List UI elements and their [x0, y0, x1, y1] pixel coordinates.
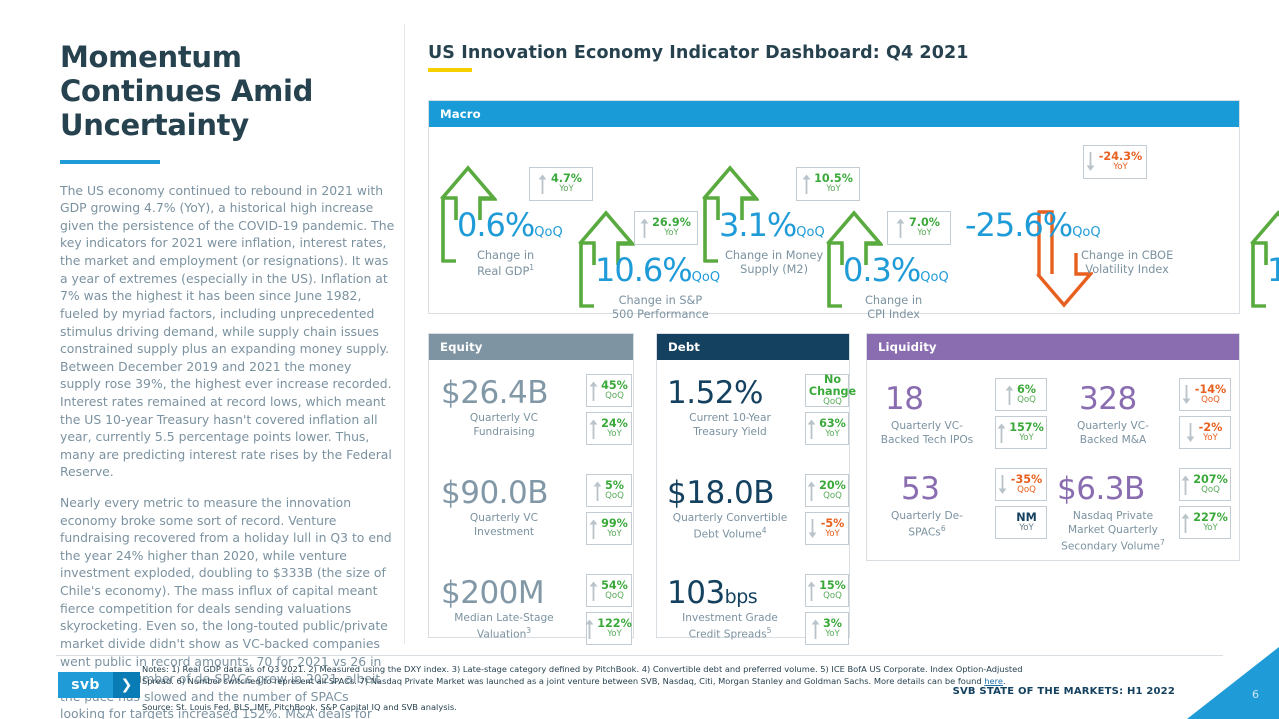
metric-chip-1-qoq: -14%QoQ — [1179, 378, 1231, 411]
footnotes: Notes: 1) Real GDP data as of Q3 2021. 2… — [142, 663, 1032, 688]
chip-period: YoY — [551, 185, 582, 194]
macro-value: 3.1%QoQ — [719, 209, 825, 241]
macro-value-period: QoQ — [1072, 225, 1100, 240]
svb-logo[interactable]: svb ❯ — [58, 672, 140, 698]
chip-arrow-up-icon — [1003, 384, 1015, 406]
chip-period: YoY — [821, 530, 845, 539]
chip-arrow-down-icon — [997, 474, 1009, 496]
metric-value: $6.3B — [1057, 474, 1145, 505]
svb-logo-wordmark: svb — [58, 672, 113, 698]
chip-period: QoQ — [601, 392, 628, 401]
metric-chip-2-qoq: 15%QoQ — [805, 574, 849, 607]
metric-chip-2-qoq: -35%QoQ — [995, 468, 1047, 501]
metric-label: Nasdaq PrivateMarket QuarterlySecondary … — [1045, 510, 1181, 554]
chip-arrow-up-icon — [805, 480, 817, 502]
chip-period: YoY — [1193, 524, 1228, 533]
metric-chip-2-yoy: 122%YoY — [586, 612, 632, 645]
dashboard-title: US Innovation Economy Indicator Dashboar… — [428, 43, 969, 63]
chip-period: QoQ — [601, 592, 628, 601]
equity-panel-header: Equity — [429, 334, 633, 360]
page-title: Momentum Continues Amid Uncertainty — [60, 40, 396, 143]
metric-value: 328 — [1079, 384, 1137, 415]
chip-period: YoY — [601, 530, 628, 539]
metric-chip-2-yoy: NMYoY — [995, 506, 1047, 539]
debt-panel-header: Debt — [657, 334, 849, 360]
chip-arrow-up-icon — [805, 580, 817, 602]
macro-value: -25.6%QoQ — [965, 209, 1101, 241]
metric-label: Quarterly VCInvestment — [429, 512, 579, 540]
corner-accent: 6 — [1187, 647, 1279, 719]
chip-arrow-up-icon — [800, 173, 812, 195]
corner-triangle — [1187, 647, 1279, 719]
chip-arrow-up-icon — [809, 618, 821, 640]
chip-period: YoY — [909, 229, 940, 238]
metric-value: 1.52% — [667, 378, 763, 409]
chip-period: QoQ — [819, 492, 846, 501]
metric-chip-0-qoq: 6%QoQ — [995, 378, 1047, 411]
chip-arrow-up-icon — [591, 480, 603, 502]
chip-arrow-up-icon — [638, 217, 650, 239]
chip-period: YoY — [819, 430, 846, 439]
metric-chip-1-yoy: -5%YoY — [805, 512, 849, 545]
metric-value: $18.0B — [667, 478, 774, 509]
chevron-right-icon: ❯ — [113, 672, 140, 698]
debt-panel: Debt 1.52%Current 10-YearTreasury YieldN… — [656, 333, 850, 638]
chip-arrow-down-icon — [1181, 384, 1193, 406]
macro-label: Change inCPI Index — [865, 294, 922, 323]
macro-value: 0.3%QoQ — [843, 254, 949, 286]
metric-value: $26.4B — [441, 378, 548, 409]
macro-value: 1.8%QoQ — [1267, 254, 1279, 286]
source-line: Source: St. Louis Fed, BLS, IMF, PitchBo… — [142, 702, 457, 712]
metric-chip-2-yoy: 3%YoY — [805, 612, 849, 645]
metric-chip-0-yoy: 157%YoY — [995, 416, 1047, 449]
chip-period: YoY — [814, 185, 853, 194]
metric-chip-2-qoq: 54%QoQ — [586, 574, 632, 607]
metric-label: Quarterly De-SPACs6 — [867, 510, 987, 540]
macro-value-period: QoQ — [796, 225, 824, 240]
chip-period: QoQ — [819, 592, 846, 601]
chip-period: QoQ — [605, 492, 624, 501]
macro-panel: Macro 0.6%QoQChange inReal GDP14.7%YoY10… — [428, 100, 1240, 314]
chip-arrow-down-icon — [1185, 422, 1197, 444]
metric-chip-0-qoq: No ChangeQoQ — [805, 374, 849, 407]
chip-percent: No Change — [809, 374, 856, 398]
metric-chip-macro-2: 10.5%YoY — [796, 167, 860, 201]
chip-period: YoY — [1199, 434, 1223, 443]
chip-arrow-up-icon — [583, 618, 595, 640]
metric-chip-macro-0: 4.7%YoY — [529, 167, 593, 201]
equity-panel: Equity $26.4BQuarterly VCFundraising45%Q… — [428, 333, 634, 638]
metric-value: $90.0B — [441, 478, 548, 509]
metric-chip-macro-1: 26.9%YoY — [634, 211, 698, 245]
chip-arrow-up-icon — [1179, 474, 1191, 496]
chip-period: QoQ — [1017, 396, 1036, 405]
metric-chip-1-yoy: 99%YoY — [586, 512, 632, 545]
metric-label: Quarterly VC-Backed M&A — [1053, 420, 1173, 448]
metric-chip-1-qoq: 20%QoQ — [805, 474, 849, 507]
metric-value: 53 — [901, 474, 939, 505]
macro-label: Change in CBOEVolatility Index — [1081, 249, 1173, 278]
footer-divider — [56, 655, 1223, 656]
footnotes-text: Notes: 1) Real GDP data as of Q3 2021. 2… — [142, 664, 1023, 686]
macro-value-period: QoQ — [920, 270, 948, 285]
metric-label: Investment GradeCredit Spreads5 — [657, 612, 803, 642]
metric-chip-0-qoq: 45%QoQ — [586, 374, 632, 407]
metric-label: Current 10-YearTreasury Yield — [657, 412, 803, 440]
chip-arrow-up-icon — [587, 518, 599, 540]
chip-arrow-up-icon — [537, 173, 549, 195]
macro-value-period: QoQ — [534, 225, 562, 240]
metric-chip-macro-3: 7.0%YoY — [887, 211, 951, 245]
chip-arrow-up-icon — [805, 418, 817, 440]
chip-period: YoY — [601, 430, 628, 439]
metric-chip-macro-4: -24.3%YoY — [1083, 145, 1147, 179]
metric-value: 103bps — [667, 578, 757, 609]
chip-arrow-up-icon — [587, 418, 599, 440]
chip-period: YoY — [1016, 524, 1037, 533]
column-divider — [404, 24, 405, 644]
metric-label: Quarterly VCFundraising — [429, 412, 579, 440]
chip-arrow-up-icon — [587, 380, 599, 402]
page-number: 6 — [1252, 688, 1259, 701]
macro-label: Change in S&P500 Performance — [612, 294, 709, 323]
metric-label: Quarterly VC-Backed Tech IPOs — [867, 420, 987, 448]
metric-chip-0-yoy: 63%YoY — [805, 412, 849, 445]
body-paragraph-1: The US economy continued to rebound in 2… — [60, 182, 396, 481]
title-underline — [60, 160, 160, 164]
chip-period: YoY — [1099, 163, 1142, 172]
dashboard-title-underline — [428, 68, 472, 72]
metric-chip-3-qoq: 207%QoQ — [1179, 468, 1231, 501]
metric-value: $200M — [441, 578, 544, 609]
chip-period: YoY — [597, 630, 632, 639]
macro-panel-header: Macro — [429, 101, 1239, 127]
liquidity-panel: Liquidity 18Quarterly VC-Backed Tech IPO… — [866, 333, 1240, 561]
footnotes-tail: . — [1003, 676, 1006, 686]
chip-arrow-down-icon — [807, 518, 819, 540]
metric-label: Quarterly ConvertibleDebt Volume4 — [657, 512, 803, 542]
footnotes-link[interactable]: here — [984, 676, 1003, 686]
liquidity-panel-header: Liquidity — [867, 334, 1239, 360]
chip-period: QoQ — [1195, 396, 1226, 405]
chip-arrow-up-icon — [587, 580, 599, 602]
metric-chip-1-qoq: 5%QoQ — [586, 474, 632, 507]
metric-chip-3-yoy: 227%YoY — [1179, 506, 1231, 539]
chip-arrow-up-icon — [895, 217, 907, 239]
macro-value-period: QoQ — [692, 270, 720, 285]
metric-label: Median Late-StageValuation3 — [429, 612, 579, 642]
metric-unit: bps — [725, 586, 758, 608]
macro-label: Change inReal GDP1 — [477, 249, 534, 280]
metric-chip-1-yoy: -2%YoY — [1179, 416, 1231, 449]
chip-arrow-up-icon — [1179, 512, 1191, 534]
metric-value: 18 — [885, 384, 923, 415]
chip-arrow-up-icon — [995, 422, 1007, 444]
chip-period: QoQ — [809, 398, 856, 407]
footer-brand: SVB STATE OF THE MARKETS: H1 2022 — [953, 686, 1175, 697]
chip-period: QoQ — [1011, 486, 1042, 495]
chip-period: YoY — [823, 630, 842, 639]
left-column: Momentum Continues Amid Uncertainty The … — [60, 40, 396, 719]
metric-chip-0-yoy: 24%YoY — [586, 412, 632, 445]
slide-canvas: Momentum Continues Amid Uncertainty The … — [0, 0, 1279, 719]
chip-period: YoY — [652, 229, 691, 238]
chip-period: YoY — [1009, 434, 1044, 443]
chip-period: QoQ — [1193, 486, 1228, 495]
chip-arrow-down-icon — [1085, 151, 1097, 173]
macro-label: Change in MoneySupply (M2) — [725, 249, 823, 278]
macro-value: 0.6%QoQ — [457, 209, 563, 241]
